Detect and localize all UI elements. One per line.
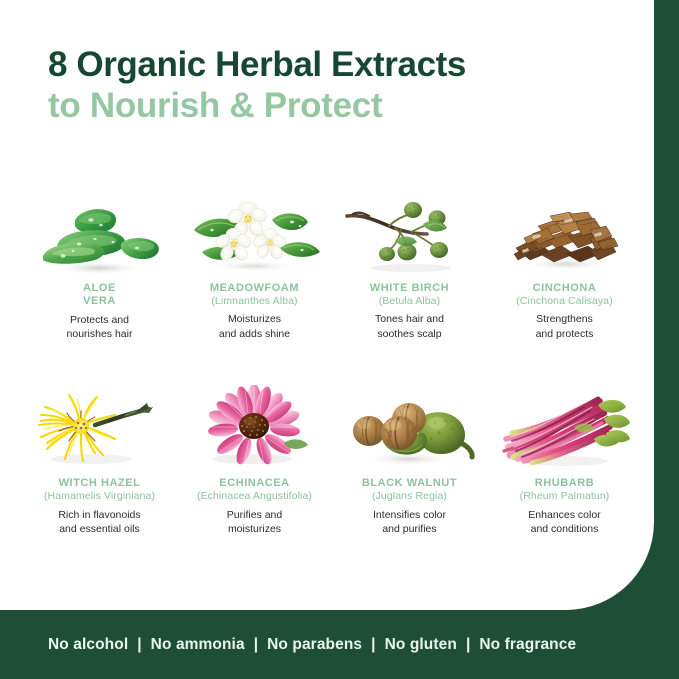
extract-name-group: MEADOWFOAM (Limnanthes Alba) xyxy=(210,282,299,307)
claim-no-fragrance: No fragrance xyxy=(479,636,576,654)
extract-desc-line2: and adds shine xyxy=(219,327,290,341)
extract-card-rhubarb: RHUBARB (Rheum Palmatun) Enhances color … xyxy=(487,385,642,536)
extract-card-witch-hazel: WITCH HAZEL (Hamamelis Virginiana) Rich … xyxy=(22,385,177,536)
extract-description: Rich in flavonoids and essential oils xyxy=(58,508,140,536)
claims-banner: No alcohol | No ammonia | No parabens | … xyxy=(0,610,679,679)
claim-separator: | xyxy=(466,636,470,654)
extract-common-name-line1: CINCHONA xyxy=(516,282,612,295)
extract-latin-name: (Rheum Palmatun) xyxy=(520,490,610,502)
title-line-secondary: to Nourish & Protect xyxy=(48,85,628,128)
extract-desc-line1: Protects and xyxy=(67,313,133,327)
extract-desc-line1: Tones hair and xyxy=(375,312,444,326)
extract-card-meadowfoam: MEADOWFOAM (Limnanthes Alba) Moisturizes… xyxy=(177,190,332,341)
extract-desc-line2: soothes scalp xyxy=(375,327,444,341)
extract-name-group: BLACK WALNUT (Juglans Regia) xyxy=(362,477,457,502)
claim-separator: | xyxy=(137,636,141,654)
extract-common-name-line1: WHITE BIRCH xyxy=(370,282,449,295)
page-title: 8 Organic Herbal Extracts to Nourish & P… xyxy=(48,44,628,128)
claim-no-gluten: No gluten xyxy=(385,636,457,654)
extract-name-group: ALOE VERA xyxy=(83,282,116,308)
extract-common-name-line1: RHUBARB xyxy=(520,477,610,490)
black-walnut-nuts-icon xyxy=(339,385,481,471)
extract-desc-line1: Strengthens xyxy=(536,312,594,326)
extract-desc-line2: and purifies xyxy=(373,522,446,536)
extract-common-name-line1: BLACK WALNUT xyxy=(362,477,457,490)
extract-common-name-line2: VERA xyxy=(83,295,116,308)
title-line-primary: 8 Organic Herbal Extracts xyxy=(48,44,628,85)
extract-description: Purifies and moisturizes xyxy=(227,508,282,536)
extract-latin-name: (Limnanthes Alba) xyxy=(210,295,299,307)
claim-no-parabens: No parabens xyxy=(267,636,362,654)
extract-description: Enhances color and conditions xyxy=(528,508,600,536)
extract-name-group: CINCHONA (Cinchona Calisaya) xyxy=(516,282,612,307)
echinacea-flower-icon xyxy=(184,385,326,471)
claims-list: No alcohol | No ammonia | No parabens | … xyxy=(48,636,576,654)
extract-card-black-walnut: BLACK WALNUT (Juglans Regia) Intensifies… xyxy=(332,385,487,536)
extract-description: Tones hair and soothes scalp xyxy=(375,312,444,340)
extract-latin-name: (Juglans Regia) xyxy=(362,490,457,502)
extract-name-group: ECHINACEA (Echinacea Angustifolia) xyxy=(197,477,312,502)
extract-description: Intensifies color and purifies xyxy=(373,508,446,536)
extract-desc-line2: and essential oils xyxy=(58,522,140,536)
white-birch-catkins-icon xyxy=(339,190,481,276)
extract-card-echinacea: ECHINACEA (Echinacea Angustifolia) Purif… xyxy=(177,385,332,536)
extract-common-name-line1: ECHINACEA xyxy=(197,477,312,490)
meadowfoam-flower-icon xyxy=(184,190,326,276)
extract-desc-line2: and protects xyxy=(536,327,594,341)
extract-desc-line2: nourishes hair xyxy=(67,327,133,341)
extract-name-group: WITCH HAZEL (Hamamelis Virginiana) xyxy=(44,477,155,502)
claim-separator: | xyxy=(254,636,258,654)
rhubarb-stalks-icon xyxy=(494,385,636,471)
extract-name-group: WHITE BIRCH (Betula Alba) xyxy=(370,282,449,307)
extract-desc-line2: moisturizes xyxy=(227,522,282,536)
extract-description: Protects and nourishes hair xyxy=(67,313,133,341)
extract-name-group: RHUBARB (Rheum Palmatun) xyxy=(520,477,610,502)
infographic-poster: 8 Organic Herbal Extracts to Nourish & P… xyxy=(0,0,679,679)
extract-description: Moisturizes and adds shine xyxy=(219,312,290,340)
extract-latin-name: (Betula Alba) xyxy=(370,295,449,307)
extract-desc-line1: Rich in flavonoids xyxy=(58,508,140,522)
extract-card-cinchona: CINCHONA (Cinchona Calisaya) Strengthens… xyxy=(487,190,642,341)
extract-desc-line2: and conditions xyxy=(528,522,600,536)
extract-latin-name: (Hamamelis Virginiana) xyxy=(44,490,155,502)
cinchona-bark-chips-icon xyxy=(494,190,636,276)
extract-common-name-line1: ALOE xyxy=(83,282,116,295)
extract-card-white-birch: WHITE BIRCH (Betula Alba) Tones hair and… xyxy=(332,190,487,341)
extracts-grid: ALOE VERA Protects and nourishes hair xyxy=(22,190,642,536)
extract-card-aloe-vera: ALOE VERA Protects and nourishes hair xyxy=(22,190,177,341)
extract-common-name-line1: WITCH HAZEL xyxy=(44,477,155,490)
claim-no-ammonia: No ammonia xyxy=(151,636,245,654)
extract-latin-name: (Cinchona Calisaya) xyxy=(516,295,612,307)
extract-desc-line1: Purifies and xyxy=(227,508,282,522)
extract-desc-line1: Moisturizes xyxy=(219,312,290,326)
claim-separator: | xyxy=(371,636,375,654)
extract-desc-line1: Enhances color xyxy=(528,508,600,522)
extract-desc-line1: Intensifies color xyxy=(373,508,446,522)
aloe-vera-leaves-icon xyxy=(29,190,171,276)
claim-no-alcohol: No alcohol xyxy=(48,636,128,654)
witch-hazel-flower-icon xyxy=(29,385,171,471)
extract-common-name-line1: MEADOWFOAM xyxy=(210,282,299,295)
extract-description: Strengthens and protects xyxy=(536,312,594,340)
extract-latin-name: (Echinacea Angustifolia) xyxy=(197,490,312,502)
